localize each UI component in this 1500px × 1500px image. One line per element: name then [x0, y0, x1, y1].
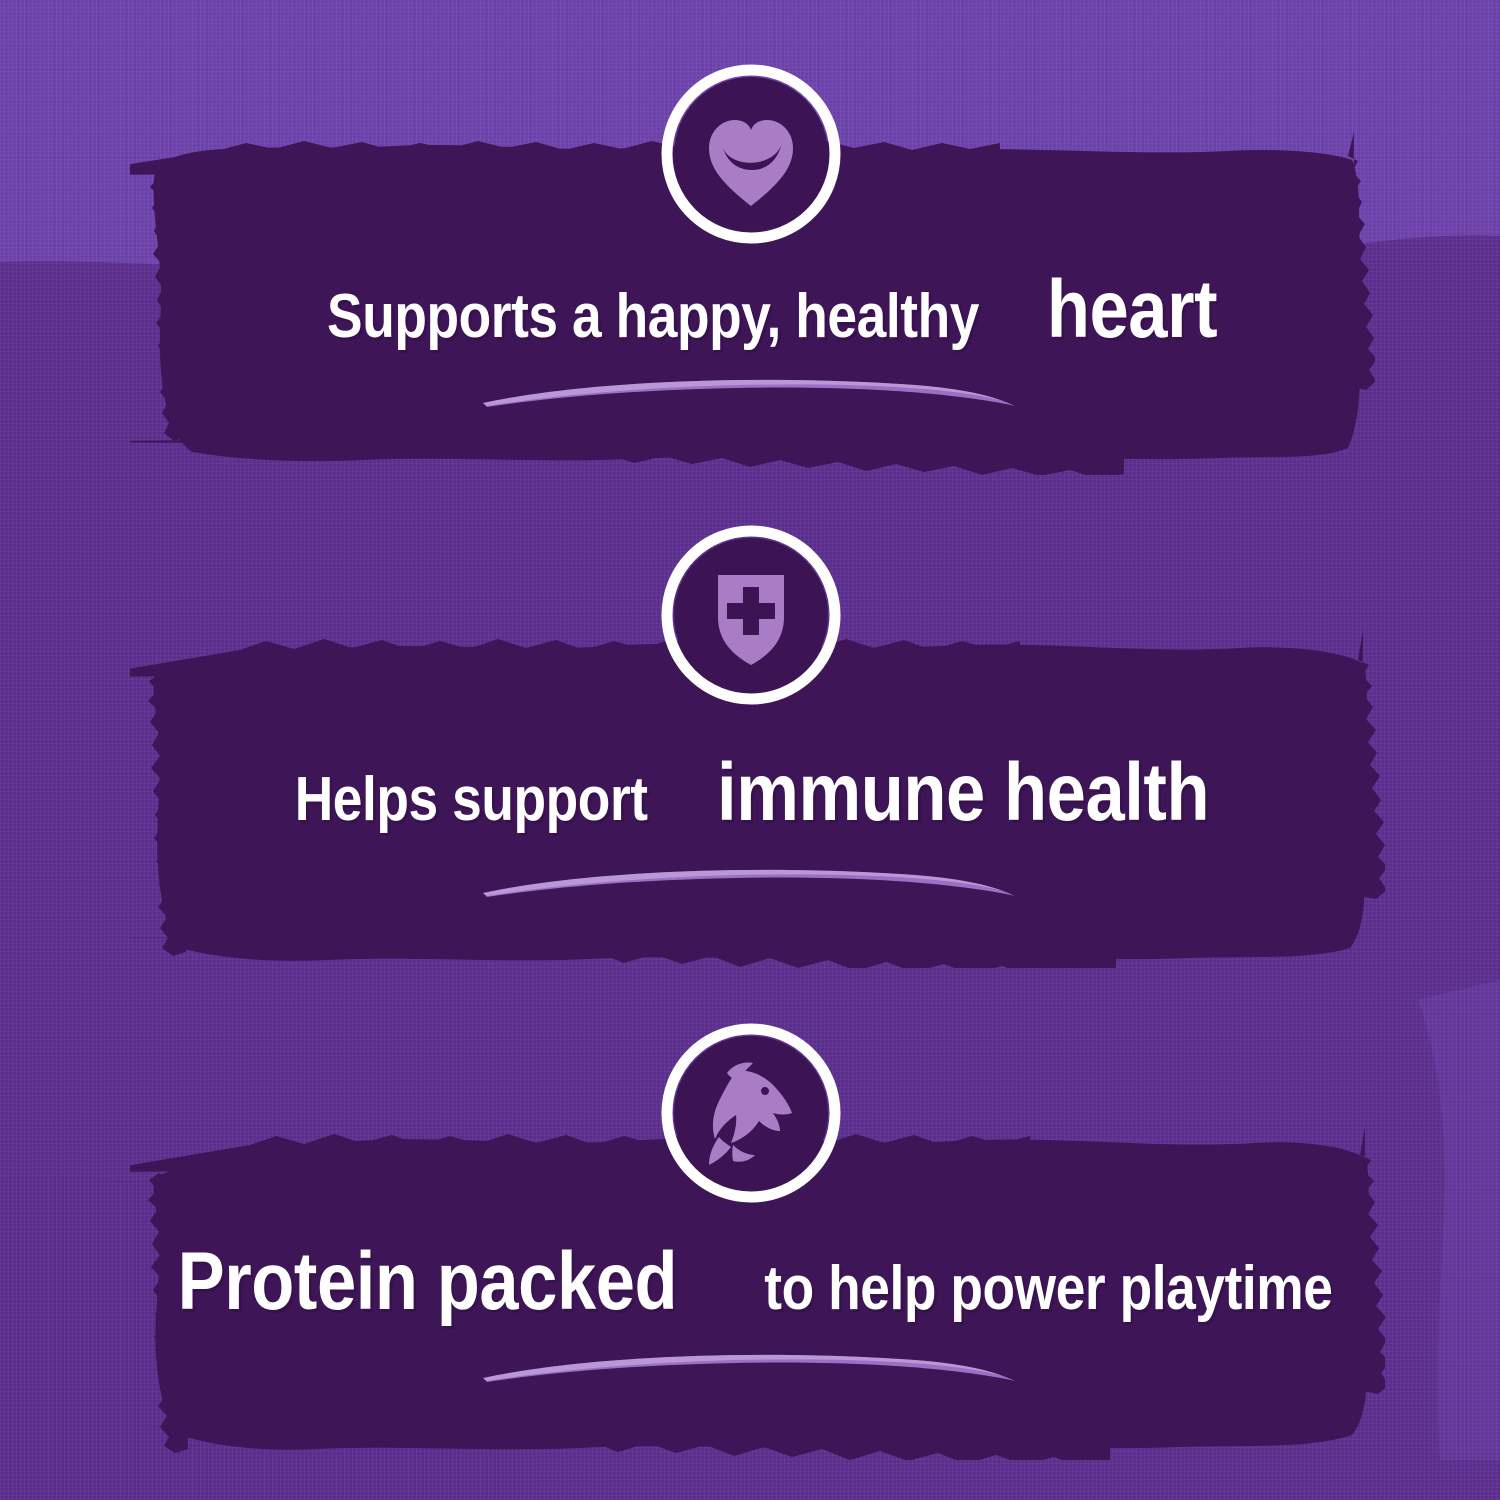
benefit-text-emphasis: immune health — [717, 746, 1209, 840]
badge-immune — [661, 525, 841, 705]
benefit-text-lead: to help power playtime — [764, 1253, 1332, 1324]
benefit-text-emphasis: Protein packed — [177, 1235, 677, 1329]
benefit-text-protein: Protein packed to help power playtime — [130, 1235, 1385, 1329]
benefit-text-heart: Supports a happy, healthy heart — [130, 263, 1375, 357]
benefits-panel: Supports a happy, healthy heart — [0, 0, 1500, 1500]
benefit-text-lead: Helps support — [295, 764, 648, 835]
benefit-text-emphasis: heart — [1046, 263, 1216, 357]
badge-heart — [661, 64, 841, 244]
benefit-text-lead: Supports a happy, healthy — [328, 281, 980, 352]
benefit-text-immune: Helps support immune health — [130, 746, 1385, 840]
badge-protein — [661, 1023, 841, 1203]
